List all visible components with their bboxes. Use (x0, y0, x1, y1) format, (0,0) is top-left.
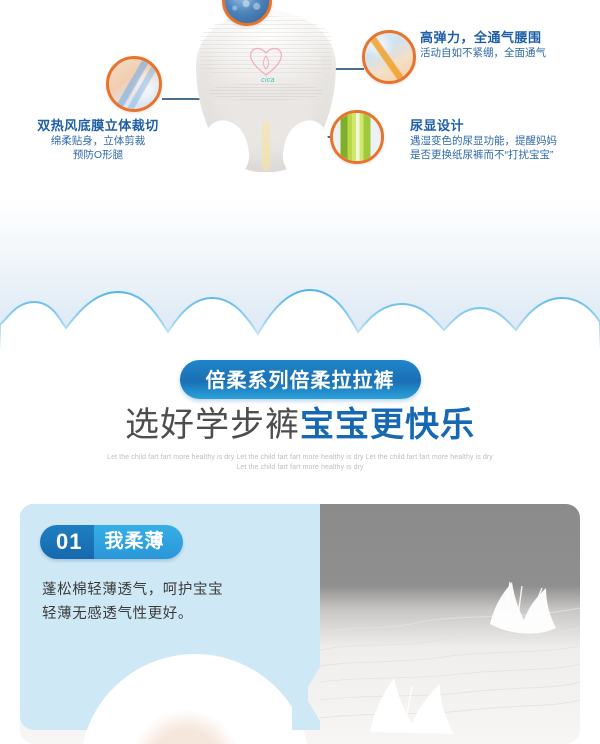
step-badge: 01 我柔薄 (40, 525, 183, 559)
pull-up-pant-illustration: cica (196, 10, 336, 172)
absorbent-beads-icon (222, 0, 272, 26)
headline-subtext: Let the child fart fart more healthy is … (0, 453, 600, 473)
headline-subtext-line-2: Let the child fart fart more healthy is … (0, 463, 600, 473)
feature-card-section: 01 我柔薄 蓬松棉轻薄透气，呵护宝宝 轻薄无感透气性更好。 (0, 490, 600, 744)
elastic-waistband-icon (362, 30, 416, 84)
callout-right-top-sub-1: 活动自如不紧绷，全面通气 (420, 46, 546, 60)
wetness-indicator-icon (330, 110, 384, 164)
baby-photo-circle (80, 654, 310, 744)
callout-right-bottom-title: 尿显设计 (410, 118, 557, 134)
scallop-wave-decoration (0, 280, 600, 350)
callout-right-bottom: 尿显设计 遇湿变色的尿显功能，提醒妈妈 是否更换纸尿裤而不“打扰宝宝” (410, 118, 557, 162)
page-title: 选好学步裤宝宝更快乐 (0, 405, 600, 445)
features-section: cica 双热风底膜立体裁切 绵柔贴身，立体剪裁 预防O形腿 高弹力，全通气腰围… (0, 0, 600, 200)
callout-left-sub-1: 绵柔贴身，立体剪裁 (8, 134, 188, 148)
soft-bottom-film-icon (106, 56, 162, 112)
product-detail-page: cica 双热风底膜立体裁切 绵柔贴身，立体剪裁 预防O形腿 高弹力，全通气腰围… (0, 0, 600, 744)
callout-left-title: 双热风底膜立体裁切 (8, 118, 188, 134)
step-badge-number: 01 (40, 525, 94, 559)
callout-right-bottom-sub-1: 遇湿变色的尿显功能，提醒妈妈 (410, 134, 557, 148)
baby-legs-photo (98, 732, 288, 744)
wave-divider-section (0, 200, 600, 350)
feature-card-copy-line-2: 轻薄无感透气性更好。 (42, 602, 223, 626)
callout-left: 双热风底膜立体裁切 绵柔贴身，立体剪裁 预防O形腿 (8, 118, 188, 162)
series-pill-badge: 倍柔系列倍柔拉拉裤 (180, 360, 421, 399)
callout-right-bottom-sub-2: 是否更换纸尿裤而不“打扰宝宝” (410, 148, 557, 162)
heart-outline-icon (246, 44, 286, 78)
headline-part-blue: 宝宝更快乐 (300, 406, 475, 444)
feature-card-copy-line-1: 蓬松棉轻薄透气，呵护宝宝 (42, 578, 223, 602)
headline-part-grey: 选好学步裤 (125, 406, 300, 444)
product-image: cica (196, 2, 336, 178)
headline-subtext-line-1: Let the child fart fart more healthy is … (0, 453, 600, 463)
product-brand-mark: cica (248, 76, 288, 85)
callout-right-top-title: 高弹力，全通气腰围 (420, 30, 546, 46)
callout-right-top: 高弹力，全通气腰围 活动自如不紧绷，全面通气 (420, 30, 546, 60)
headline-section: 倍柔系列倍柔拉拉裤 选好学步裤宝宝更快乐 Let the child fart … (0, 350, 600, 490)
feature-card-copy: 蓬松棉轻薄透气，呵护宝宝 轻薄无感透气性更好。 (42, 578, 223, 626)
step-badge-label: 我柔薄 (94, 525, 182, 559)
wetness-strip (262, 122, 270, 170)
callout-left-sub-2: 预防O形腿 (8, 148, 188, 162)
pant-mid-texture (210, 84, 322, 100)
